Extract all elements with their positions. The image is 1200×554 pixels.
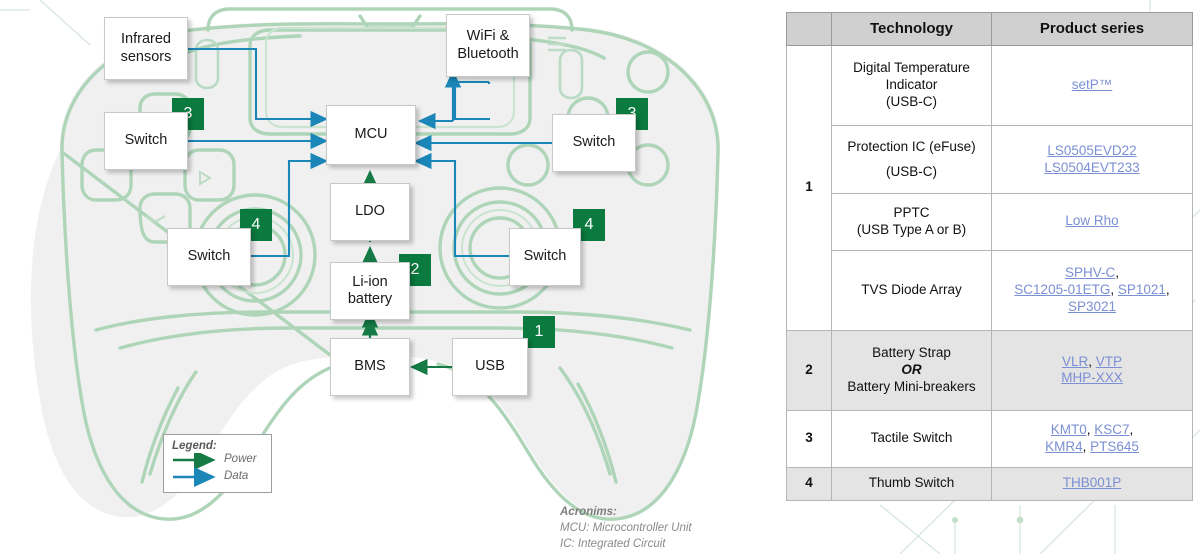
table-row: 4 Thumb Switch THB001P [787,467,1193,500]
table-row: 3 Tactile Switch KMT0, KSC7, KMR4, PTS64… [787,411,1193,468]
table-row: 2 Battery Strap OR Battery Mini-breakers… [787,330,1193,410]
technology-cell: Digital Temperature Indicator (USB-C) [832,46,992,126]
badge-value: 4 [585,216,594,234]
product-cell: Low Rho [992,194,1193,251]
product-cell: KMT0, KSC7, KMR4, PTS645 [992,411,1193,468]
node-label: WiFi & Bluetooth [447,28,529,62]
technology-line: Digital Temperature [836,60,987,77]
acronyms-title: Acronims: [560,506,617,518]
controller-block-diagram: Infrared sensors 3 Switch MCU WiFi & Blu… [0,0,780,554]
node-wifi-bluetooth[interactable]: WiFi & Bluetooth [446,14,530,77]
table-row: TVS Diode Array SPHV-C, SC1205-01ETG, SP… [787,250,1193,330]
acronym-mcu: MCU: Microcontroller Unit [560,521,692,537]
product-cell: LS0505EVD22 LS0504EVT233 [992,126,1193,194]
page-root: Infrared sensors 3 Switch MCU WiFi & Blu… [0,0,1200,554]
product-link-low-rho[interactable]: Low Rho [1065,213,1118,228]
header-number [787,13,832,46]
node-label: Switch [573,134,616,151]
group-number-2: 2 [787,330,832,410]
product-link-sp3021[interactable]: SP3021 [1068,299,1116,314]
node-label: Switch [188,248,231,265]
product-link-setp[interactable]: setP™ [1072,77,1113,92]
product-spec-table: Technology Product series 1 Digital Temp… [786,12,1193,501]
product-cell: THB001P [992,467,1193,500]
product-link-sphv-c[interactable]: SPHV-C [1065,265,1115,280]
technology-line: (USB-C) [836,164,987,181]
product-cell: VLR, VTP MHP-XXX [992,330,1193,410]
node-switch-top-right[interactable]: Switch [552,114,636,172]
group-number-1: 1 [787,46,832,331]
technology-line: (USB-C) [836,94,987,111]
node-ldo[interactable]: LDO [330,183,410,241]
node-label: Switch [524,248,567,265]
header-technology: Technology [832,13,992,46]
product-link-sp1021[interactable]: SP1021 [1118,282,1166,297]
product-link-ksc7[interactable]: KSC7 [1094,422,1129,437]
node-label: Infrared sensors [105,31,187,65]
technology-cell: PPTC (USB Type A or B) [832,194,992,251]
legend-data-label: Data [224,470,248,482]
product-link-vlr[interactable]: VLR [1062,354,1088,369]
product-link-kmt0[interactable]: KMT0 [1051,422,1087,437]
product-cell: setP™ [992,46,1193,126]
technology-cell: Battery Strap OR Battery Mini-breakers [832,330,992,410]
product-link-sc1205-01etg[interactable]: SC1205-01ETG [1014,282,1110,297]
node-switch-bottom-left[interactable]: Switch [167,228,251,286]
technology-cell: TVS Diode Array [832,250,992,330]
node-switch-bottom-right[interactable]: Switch [509,228,581,286]
legend-box: Legend: Power Data [163,434,272,493]
technology-cell: Thumb Switch [832,467,992,500]
technology-line: Indicator [836,77,987,94]
product-link-mhp-xxx[interactable]: MHP-XXX [1061,370,1123,385]
technology-line: Battery Strap [836,345,987,362]
badge-value: 2 [411,261,420,279]
table-row: 1 Digital Temperature Indicator (USB-C) … [787,46,1193,126]
node-mcu[interactable]: MCU [326,105,416,165]
node-bms[interactable]: BMS [330,338,410,396]
group-number-4: 4 [787,467,832,500]
node-label: Switch [125,132,168,149]
node-label: MCU [354,126,387,143]
node-switch-top-left[interactable]: Switch [104,112,188,170]
legend-title: Legend: [172,440,217,452]
node-label: LDO [355,203,385,220]
technology-line: PPTC [836,205,987,222]
table-row: Protection IC (eFuse) (USB-C) LS0505EVD2… [787,126,1193,194]
technology-line: Protection IC (eFuse) [836,139,987,156]
product-link-ls0505evd22[interactable]: LS0505EVD22 [1047,143,1136,158]
acronym-ic: IC: Integrated Circuit [560,537,692,553]
product-spec-table-container: Technology Product series 1 Digital Temp… [786,12,1192,501]
node-infrared-sensors[interactable]: Infrared sensors [104,17,188,80]
technology-cell: Tactile Switch [832,411,992,468]
technology-line: (USB Type A or B) [836,222,987,239]
table-row: PPTC (USB Type A or B) Low Rho [787,194,1193,251]
header-product-series: Product series [992,13,1193,46]
node-label: Li-ion battery [331,274,409,308]
node-label: BMS [354,358,385,375]
technology-line: Battery Mini-breakers [836,379,987,396]
technology-cell: Protection IC (eFuse) (USB-C) [832,126,992,194]
badge-value: 1 [535,323,544,341]
table-header-row: Technology Product series [787,13,1193,46]
technology-or: OR [836,362,987,379]
legend-power-label: Power [224,453,257,465]
node-li-ion-battery[interactable]: Li-ion battery [330,262,410,320]
group-number-3: 3 [787,411,832,468]
product-link-kmr4[interactable]: KMR4 [1045,439,1083,454]
node-label: USB [475,358,505,375]
product-link-vtp[interactable]: VTP [1096,354,1122,369]
acronyms-block: Acronims: MCU: Microcontroller Unit IC: … [560,505,692,553]
product-link-ls0504evt233[interactable]: LS0504EVT233 [1044,160,1139,175]
product-cell: SPHV-C, SC1205-01ETG, SP1021, SP3021 [992,250,1193,330]
product-link-thb001p[interactable]: THB001P [1063,475,1122,490]
badge-value: 4 [252,216,261,234]
node-usb[interactable]: USB [452,338,528,396]
product-link-pts645[interactable]: PTS645 [1090,439,1139,454]
